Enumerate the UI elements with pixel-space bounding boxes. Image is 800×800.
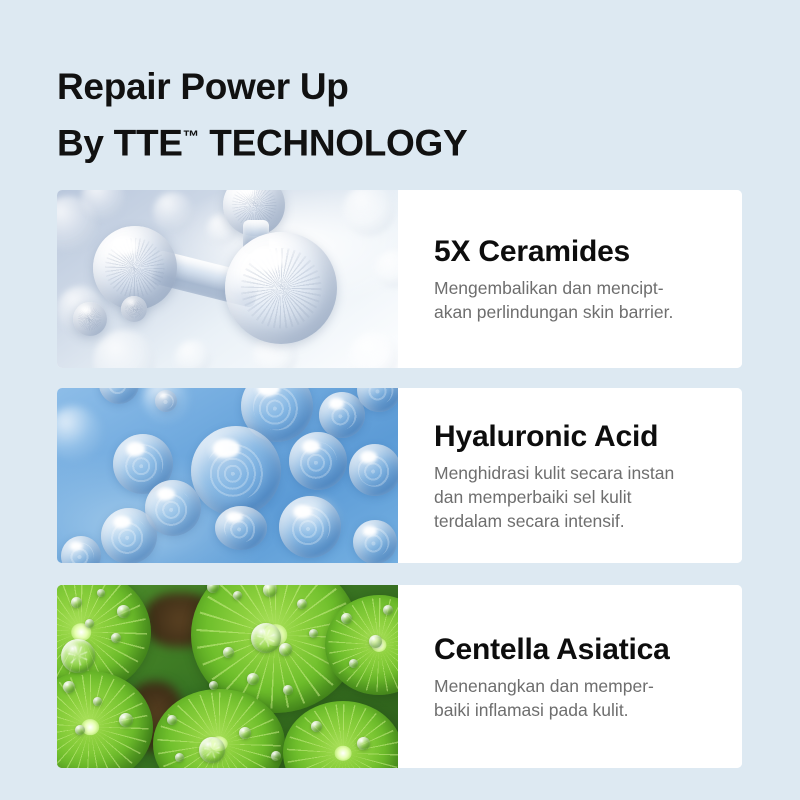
description-line: akan perlindungan skin barrier. [434,300,716,324]
description-line: terdalam secara intensif. [434,509,716,533]
feature-card-hyaluronic-acid-body: Hyaluronic Acid Menghidrasi kulit secara… [398,388,742,563]
trademark-symbol: ™ [183,127,200,146]
centella-leaves-photo [57,585,398,768]
feature-card-description: Mengembalikan dan mencipt- akan perlindu… [434,276,716,324]
feature-card-centella-asiatica: Centella Asiatica Menenangkan dan memper… [57,585,742,768]
description-line: Menenangkan dan memper- [434,674,716,698]
description-line: baiki inflamasi pada kulit. [434,698,716,722]
feature-card-description: Menghidrasi kulit secara instan dan memp… [434,461,716,533]
feature-card-ceramides-body: 5X Ceramides Mengembalikan dan mencipt- … [398,190,742,368]
feature-card-centella-asiatica-body: Centella Asiatica Menenangkan dan memper… [398,585,742,768]
water-bubbles-photo [57,388,398,563]
feature-card-hyaluronic-acid: Hyaluronic Acid Menghidrasi kulit secara… [57,388,742,563]
description-line: dan memperbaiki sel kulit [434,485,716,509]
feature-card-title: Hyaluronic Acid [434,419,716,455]
feature-card-title: 5X Ceramides [434,234,716,270]
ceramide-molecule-photo [57,190,398,368]
feature-card-title: Centella Asiatica [434,632,716,668]
page-title: Repair Power Up By TTE™ TECHNOLOGY [57,62,467,168]
page-title-line-2: By TTE™ TECHNOLOGY [57,112,467,168]
page-title-brand: By TTE [57,122,183,163]
page-title-line-1: Repair Power Up [57,62,467,112]
page-title-technology: TECHNOLOGY [199,122,467,163]
description-line: Menghidrasi kulit secara instan [434,461,716,485]
feature-card-description: Menenangkan dan memper- baiki inflamasi … [434,674,716,722]
description-line: Mengembalikan dan mencipt- [434,276,716,300]
feature-card-ceramides: 5X Ceramides Mengembalikan dan mencipt- … [57,190,742,368]
